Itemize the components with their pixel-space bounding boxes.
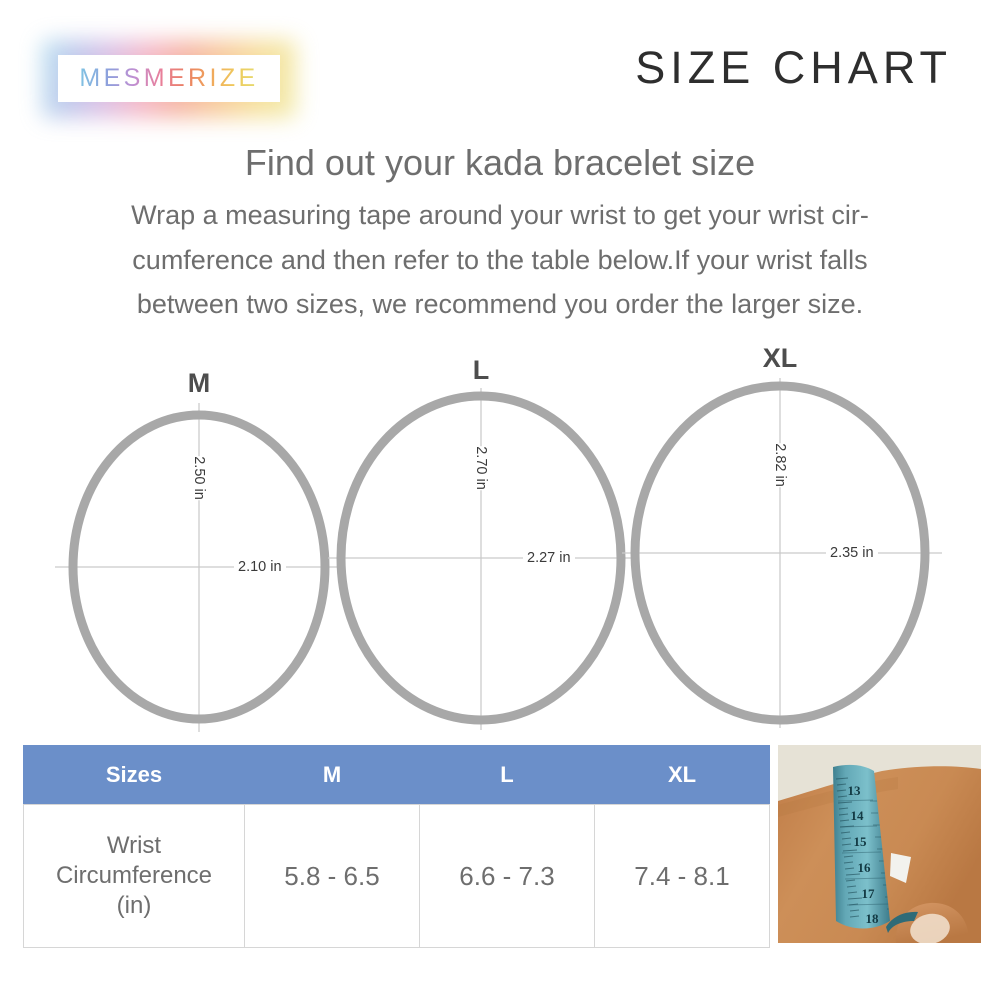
page-title: SIZE CHART	[635, 42, 952, 94]
table-header-row: Sizes M L XL	[24, 746, 770, 805]
intro-line-1: Wrap a measuring tape around your wrist …	[40, 193, 960, 238]
brand-name: MESMERIZE	[79, 64, 258, 93]
ring-height-label-xl: 2.82 in	[768, 443, 792, 487]
size-table: Sizes M L XL Wrist Circumference (in) 5.…	[23, 745, 770, 948]
tape-number-18: 18	[866, 911, 880, 926]
intro-heading: Find out your kada bracelet size	[0, 140, 1000, 185]
intro-paragraph: Wrap a measuring tape around your wrist …	[40, 193, 960, 327]
intro-block: Find out your kada bracelet size Wrap a …	[0, 140, 1000, 327]
table-header-xl: XL	[595, 746, 770, 805]
brand-logo: MESMERIZE	[58, 55, 280, 102]
intro-line-2: cumference and then refer to the table b…	[40, 238, 960, 283]
tape-number-16: 16	[858, 860, 872, 875]
tape-number-17: 17	[862, 886, 876, 901]
ring-height-label-l: 2.70 in	[469, 446, 493, 490]
row-label-wrist-circumference: Wrist Circumference (in)	[24, 805, 245, 948]
ring-letter-m: M	[188, 368, 211, 399]
table-row: Wrist Circumference (in) 5.8 - 6.5 6.6 -…	[24, 805, 770, 948]
table-header-sizes: Sizes	[24, 746, 245, 805]
cell-wrist-m: 5.8 - 6.5	[245, 805, 420, 948]
intro-line-3: between two sizes, we recommend you orde…	[40, 282, 960, 327]
cell-wrist-l: 6.6 - 7.3	[420, 805, 595, 948]
table-header-l: L	[420, 746, 595, 805]
table-header-m: M	[245, 746, 420, 805]
wrist-measurement-photo: 13 14 15 16 17 18	[778, 745, 981, 943]
wrist-photo-illustration: 13 14 15 16 17 18	[778, 745, 981, 943]
tape-number-13: 13	[848, 783, 862, 798]
row-label-line-2: Circumference	[25, 861, 243, 891]
ring-width-label-xl: 2.35 in	[826, 545, 878, 561]
ring-size-diagram: M 2.50 in 2.10 in L 2.70 in 2.27 in XL 2…	[0, 360, 1000, 740]
row-label-line-3: (in)	[25, 891, 243, 921]
ring-letter-xl: XL	[763, 343, 798, 374]
ring-width-label-l: 2.27 in	[523, 550, 575, 566]
tape-number-15: 15	[854, 834, 868, 849]
cell-wrist-xl: 7.4 - 8.1	[595, 805, 770, 948]
ring-letter-l: L	[473, 355, 490, 386]
ring-width-label-m: 2.10 in	[234, 559, 286, 575]
row-label-line-1: Wrist	[25, 831, 243, 861]
tape-number-14: 14	[851, 808, 865, 823]
ring-height-label-m: 2.50 in	[187, 456, 211, 500]
